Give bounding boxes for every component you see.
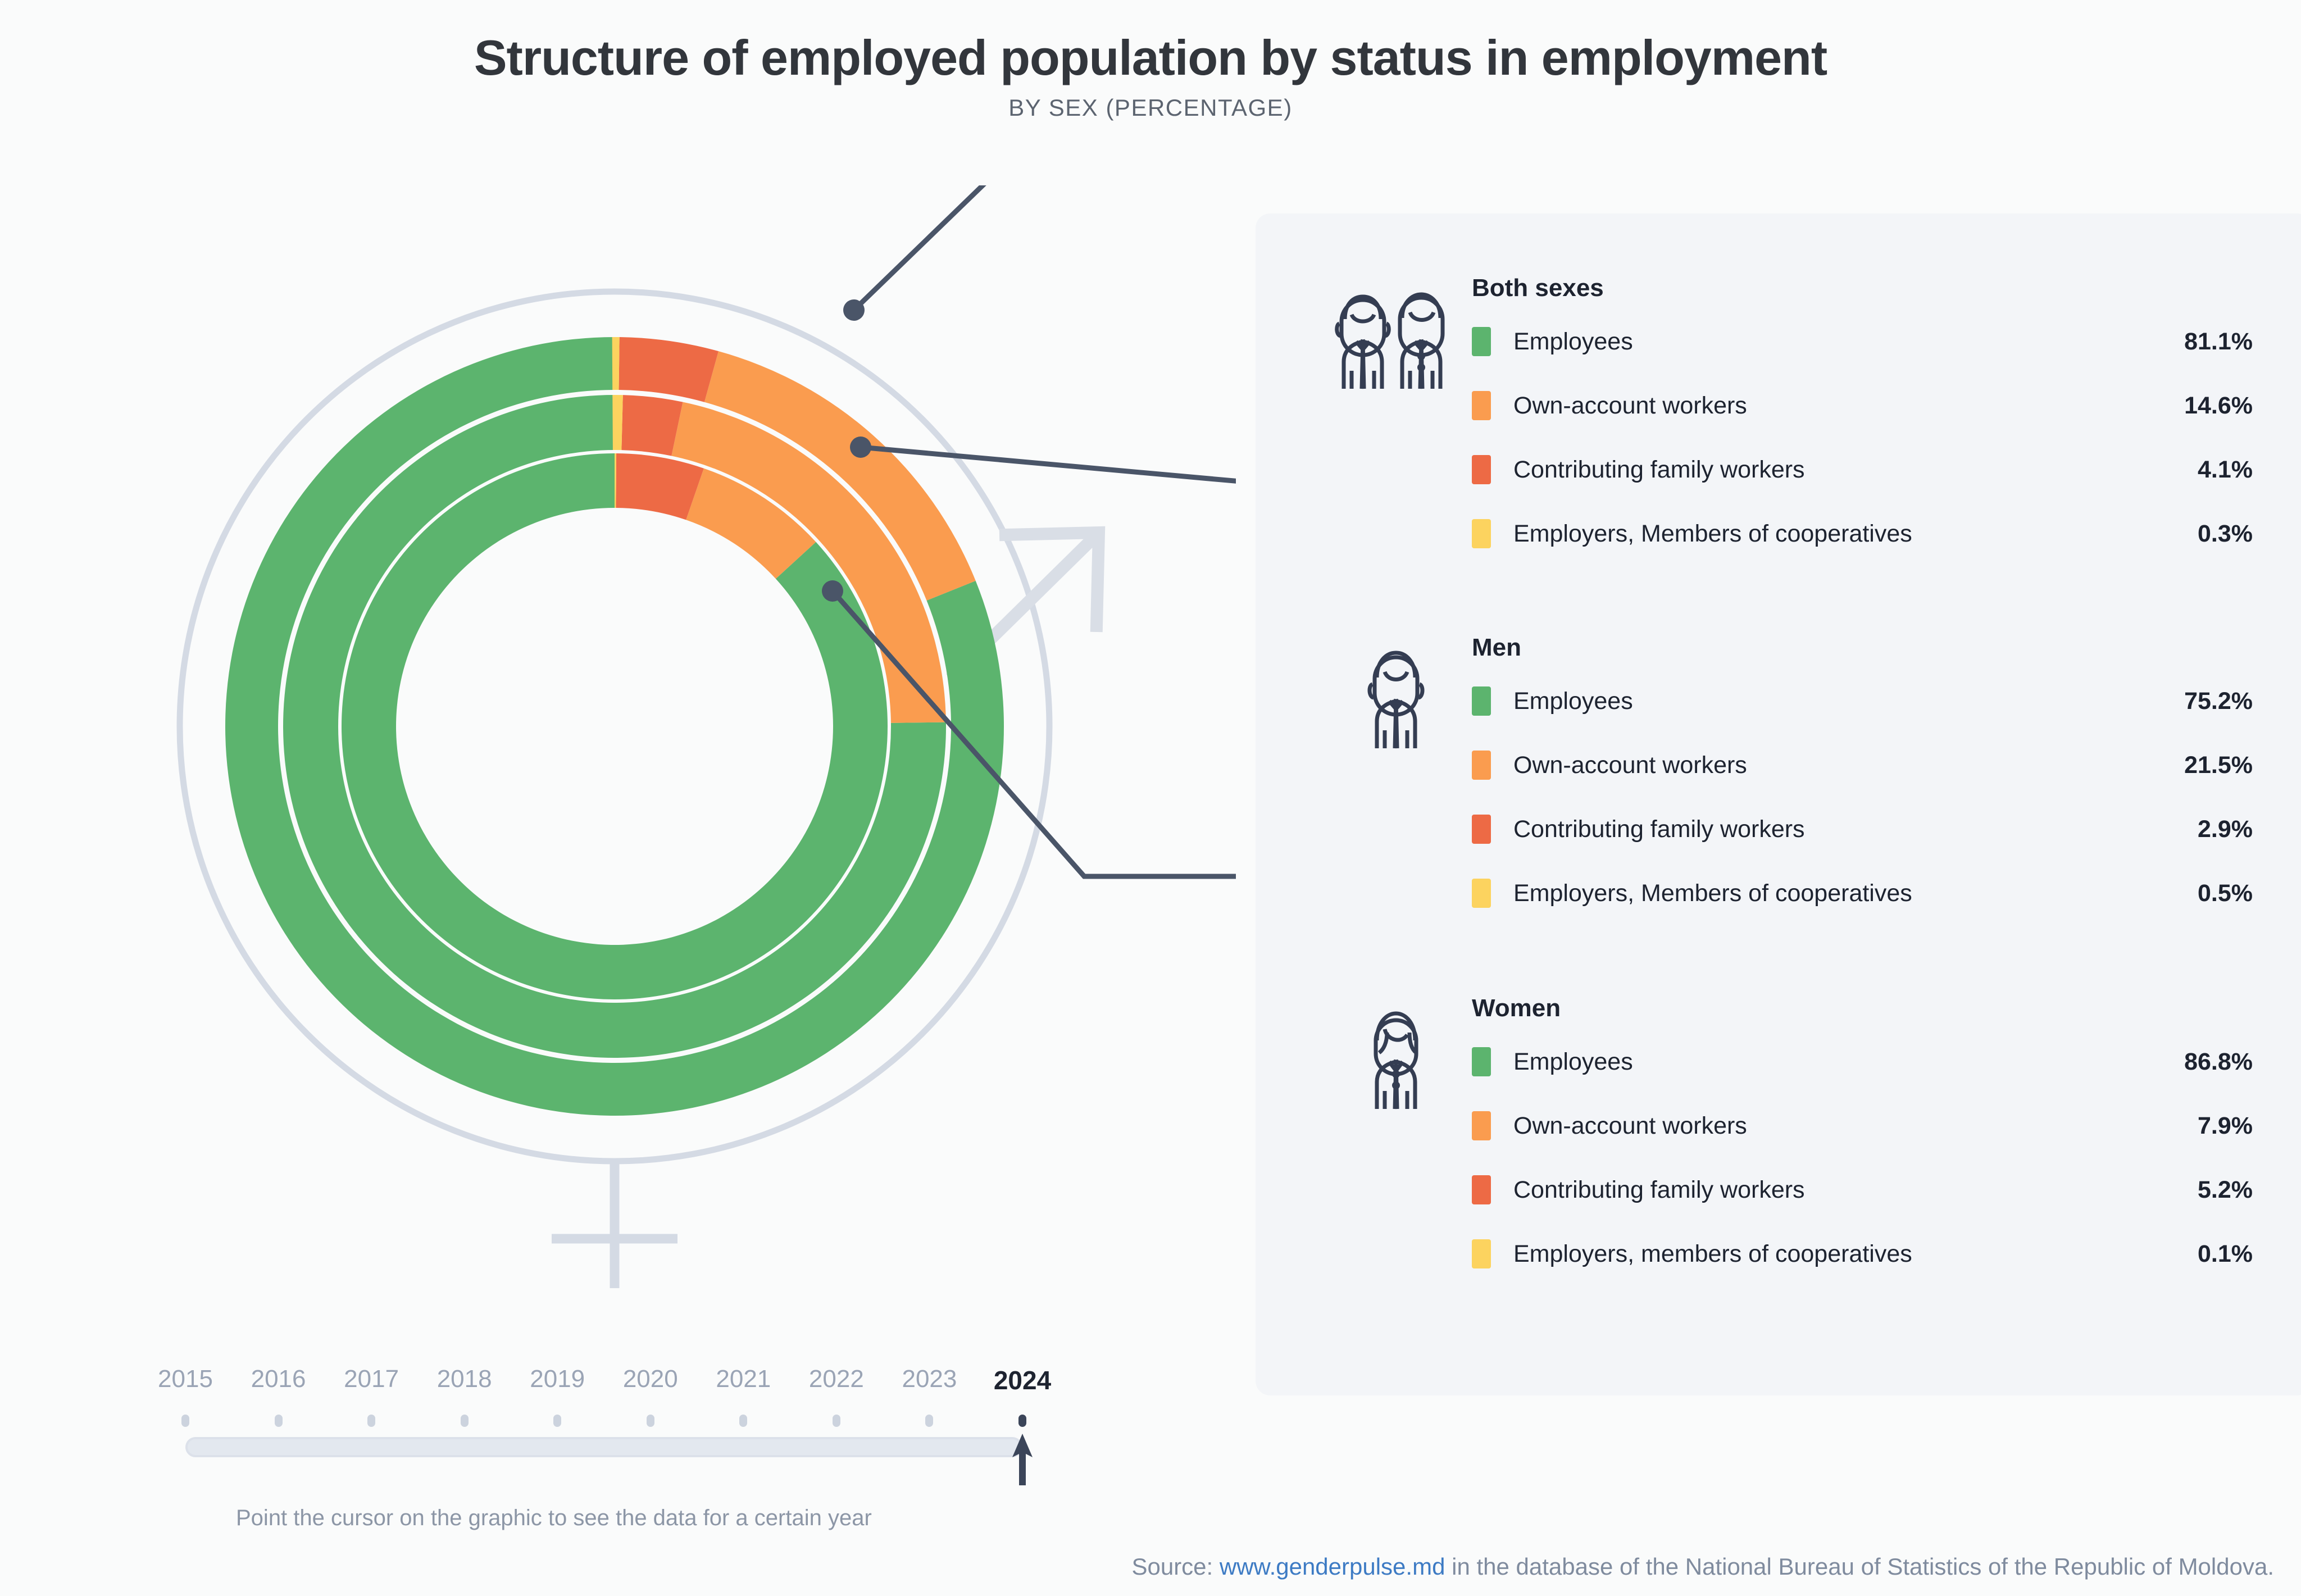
year-label-2017[interactable]: 2017 (344, 1365, 399, 1393)
legend-swatch-contributing-family (1472, 1175, 1491, 1204)
legend-label: Employers, Members of cooperatives (1513, 520, 1912, 548)
donut-segment[interactable] (612, 337, 620, 390)
legend-value: 75.2% (2184, 688, 2253, 715)
legend-value: 0.3% (2198, 520, 2253, 548)
legend-value: 2.9% (2198, 816, 2253, 843)
legend-row[interactable]: Contributing family workers 5.2% (1472, 1175, 2253, 1204)
year-label-2021[interactable]: 2021 (716, 1365, 771, 1393)
timeline-handle-icon[interactable] (1007, 1431, 1038, 1488)
legend-row[interactable]: Own-account workers 7.9% (1472, 1111, 2253, 1140)
legend-value: 0.5% (2198, 880, 2253, 907)
year-tick-2021[interactable] (739, 1415, 747, 1427)
legend-row[interactable]: Employers, Members of cooperatives 0.3% (1472, 519, 2253, 548)
year-tick-2024[interactable] (1018, 1415, 1026, 1427)
timeline-hint: Point the cursor on the graphic to see t… (236, 1506, 872, 1531)
legend-row[interactable]: Employees 75.2% (1472, 686, 2253, 716)
legend-swatch-own-account (1472, 751, 1491, 780)
timeline-track[interactable] (185, 1437, 1022, 1457)
source-footer: Source: www.genderpulse.md in the databa… (1131, 1553, 2274, 1580)
donut-rings[interactable] (225, 337, 1004, 1116)
source-link[interactable]: www.genderpulse.md (1220, 1553, 1445, 1580)
legend-value: 81.1% (2184, 328, 2253, 356)
leader-dot-men (850, 436, 871, 458)
legend-label: Employers, members of cooperatives (1513, 1240, 1912, 1268)
legend-label: Employees (1513, 688, 1633, 715)
legend-row[interactable]: Employees 86.8% (1472, 1047, 2253, 1076)
legend-row[interactable]: Contributing family workers 4.1% (1472, 455, 2253, 484)
legend-value: 86.8% (2184, 1048, 2253, 1076)
leader-dot-both-sexes (843, 299, 865, 321)
legend-value: 0.1% (2198, 1240, 2253, 1268)
legend-label: Own-account workers (1513, 752, 1747, 779)
donut-chart-svg[interactable] (0, 185, 1236, 1337)
page-subtitle: BY SEX (PERCENTAGE) (0, 94, 2301, 121)
legend-row[interactable]: Own-account workers 14.6% (1472, 391, 2253, 420)
legend-group-title: Both sexes (1472, 274, 1604, 302)
year-label-2019[interactable]: 2019 (530, 1365, 585, 1393)
legend-row[interactable]: Contributing family workers 2.9% (1472, 815, 2253, 844)
year-label-2020[interactable]: 2020 (623, 1365, 678, 1393)
legend-swatch-own-account (1472, 1111, 1491, 1140)
legend-group-title: Men (1472, 634, 1521, 662)
legend-swatch-contributing-family (1472, 455, 1491, 484)
year-label-2023[interactable]: 2023 (902, 1365, 957, 1393)
legend-row[interactable]: Own-account workers 21.5% (1472, 751, 2253, 780)
year-tick-2016[interactable] (275, 1415, 283, 1427)
page-title: Structure of employed population by stat… (0, 29, 2301, 87)
legend-label: Contributing family workers (1513, 1176, 1805, 1204)
legend-label: Own-account workers (1513, 392, 1747, 420)
woman-icon (1362, 1001, 1486, 1113)
two-persons-icon (1331, 281, 1455, 393)
year-label-2018[interactable]: 2018 (437, 1365, 492, 1393)
man-icon (1362, 640, 1486, 753)
legend-swatch-own-account (1472, 391, 1491, 420)
year-tick-2018[interactable] (461, 1415, 469, 1427)
legend-swatch-contributing-family (1472, 815, 1491, 844)
leader-line-both-sexes (854, 185, 1236, 310)
legend-label: Contributing family workers (1513, 816, 1805, 843)
legend-label: Contributing family workers (1513, 456, 1805, 484)
year-tick-2015[interactable] (181, 1415, 189, 1427)
legend-label: Employees (1513, 1048, 1633, 1076)
year-label-2015[interactable]: 2015 (158, 1365, 213, 1393)
legend-value: 7.9% (2198, 1112, 2253, 1140)
source-prefix: Source: (1131, 1553, 1219, 1580)
legend-value: 14.6% (2184, 392, 2253, 420)
year-tick-2017[interactable] (367, 1415, 375, 1427)
donut-segment[interactable] (612, 395, 623, 450)
legend-row[interactable]: Employers, Members of cooperatives 0.5% (1472, 879, 2253, 908)
legend-swatch-employees (1472, 1047, 1491, 1076)
legend-swatch-employers (1472, 879, 1491, 908)
year-timeline[interactable]: 2015201620172018201920202021202220232024… (185, 1365, 1062, 1477)
legend-swatch-employees (1472, 327, 1491, 356)
legend-group-title: Women (1472, 994, 1561, 1022)
legend-swatch-employers (1472, 519, 1491, 548)
year-tick-2020[interactable] (647, 1415, 654, 1427)
source-suffix: in the database of the National Bureau o… (1445, 1553, 2274, 1580)
year-label-2022[interactable]: 2022 (809, 1365, 864, 1393)
legend-value: 4.1% (2198, 456, 2253, 484)
legend-swatch-employers (1472, 1239, 1491, 1268)
legend-value: 5.2% (2198, 1176, 2253, 1204)
legend-swatch-employees (1472, 686, 1491, 716)
legend-value: 21.5% (2184, 752, 2253, 779)
legend-panel: Both sexes Employees 81.1% Own-account w… (1256, 213, 2301, 1395)
year-label-2024[interactable]: 2024 (994, 1365, 1051, 1395)
leader-dot-women (822, 580, 843, 602)
year-tick-2023[interactable] (925, 1415, 933, 1427)
legend-row[interactable]: Employers, members of cooperatives 0.1% (1472, 1239, 2253, 1268)
legend-label: Own-account workers (1513, 1112, 1747, 1140)
donut-segment[interactable] (619, 337, 719, 402)
legend-row[interactable]: Employees 81.1% (1472, 327, 2253, 356)
legend-label: Employees (1513, 328, 1633, 356)
year-tick-2022[interactable] (833, 1415, 840, 1427)
legend-label: Employers, Members of cooperatives (1513, 880, 1912, 907)
year-label-2016[interactable]: 2016 (251, 1365, 306, 1393)
year-tick-2019[interactable] (553, 1415, 561, 1427)
donut-chart[interactable] (0, 185, 1236, 1337)
timeline-handle[interactable] (1007, 1431, 1038, 1488)
